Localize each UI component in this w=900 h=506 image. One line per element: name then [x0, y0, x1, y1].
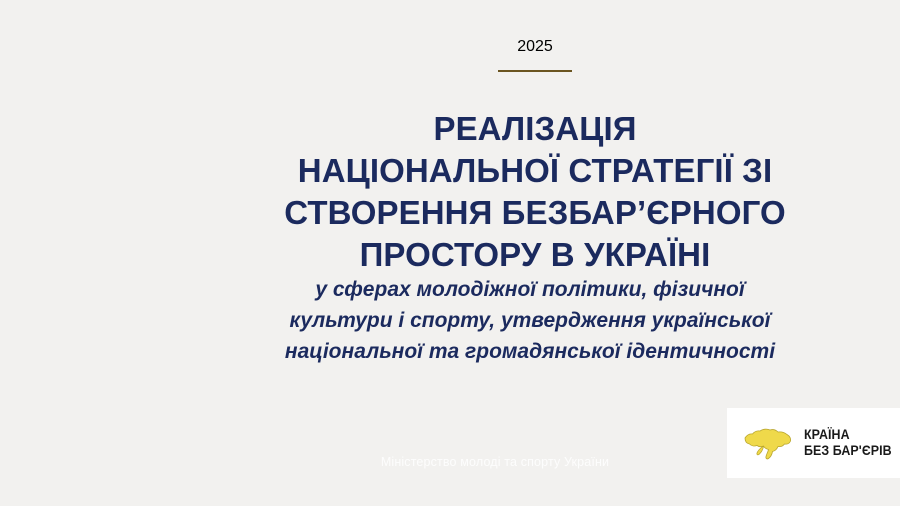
headline-line-4: ПРОСТОРУ В УКРАЇНІ: [218, 234, 852, 276]
title-slide: 2025 РЕАЛІЗАЦІЯ НАЦІОНАЛЬНОЇ СТРАТЕГІЇ З…: [0, 0, 900, 506]
year-block: 2025: [345, 38, 725, 72]
logo-wordmark-line-2: БЕЗ БАР'ЄРІВ: [804, 443, 892, 459]
footer-credit: Міністерство молоді та спорту України: [260, 455, 730, 469]
logo-wordmark-line-1: КРАЇНА: [804, 427, 892, 443]
headline-line-3: СТВОРЕННЯ БЕЗБАР’ЄРНОГО: [218, 192, 852, 234]
subtitle-line-3: національної та громадянської ідентичнос…: [196, 337, 864, 368]
logo-badge: КРАЇНА БЕЗ БАР'ЄРІВ: [727, 408, 900, 478]
ukraine-map-icon: [741, 423, 795, 463]
headline-line-1: РЕАЛІЗАЦІЯ: [218, 108, 852, 150]
page-title: РЕАЛІЗАЦІЯ НАЦІОНАЛЬНОЇ СТРАТЕГІЇ ЗІ СТВ…: [218, 108, 852, 276]
page-subtitle: у сферах молодіжної політики, фізичної к…: [196, 275, 864, 368]
logo-wordmark: КРАЇНА БЕЗ БАР'ЄРІВ: [804, 427, 892, 460]
year-label: 2025: [345, 38, 725, 56]
subtitle-line-2: культури і спорту, утвердження українськ…: [196, 306, 864, 337]
subtitle-line-1: у сферах молодіжної політики, фізичної: [196, 275, 864, 306]
headline-line-2: НАЦІОНАЛЬНОЇ СТРАТЕГІЇ ЗІ: [218, 150, 852, 192]
year-divider-rule: [498, 70, 572, 72]
